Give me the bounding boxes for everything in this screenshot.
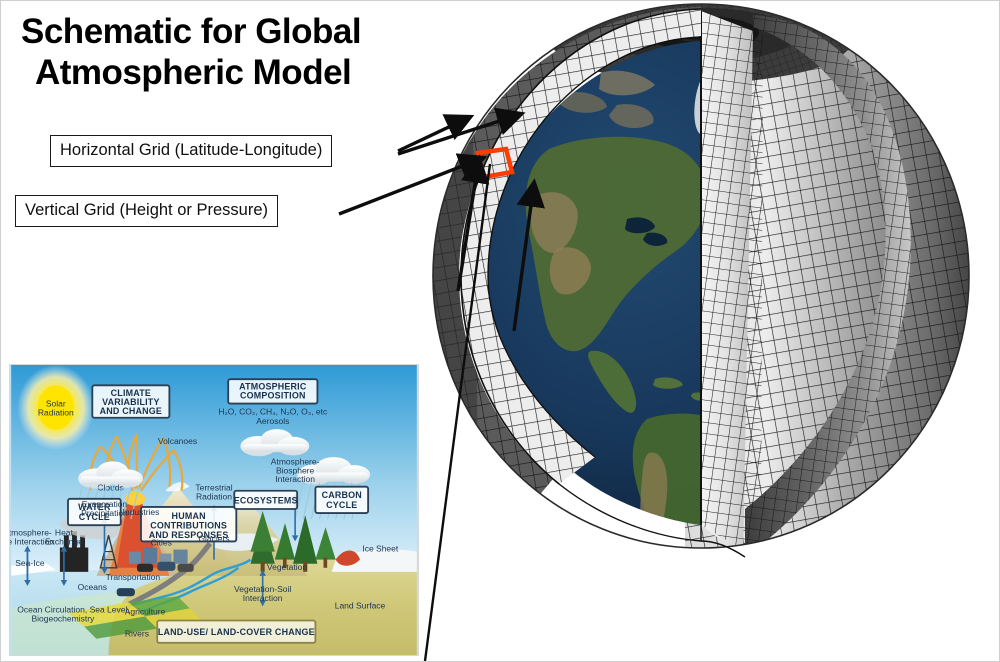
arrow-vertical-to-grid-column xyxy=(458,159,479,291)
callout-arrows xyxy=(1,1,1000,662)
schematic-page: Schematic for Global Atmospheric Model xyxy=(0,0,1000,662)
arrow-vertical-to-grid-column-b xyxy=(514,183,534,331)
callout-vertical-grid[interactable]: Vertical Grid (Height or Pressure) xyxy=(15,195,278,227)
callout-horizontal-grid-label: Horizontal Grid (Latitude-Longitude) xyxy=(60,141,322,159)
callout-horizontal-grid[interactable]: Horizontal Grid (Latitude-Longitude) xyxy=(50,135,332,167)
callout-vertical-grid-label: Vertical Grid (Height or Pressure) xyxy=(25,201,268,219)
arrow-vertical-to-shell-thickness xyxy=(339,158,483,214)
arrow-horizontal-to-inner-shell xyxy=(398,114,521,154)
